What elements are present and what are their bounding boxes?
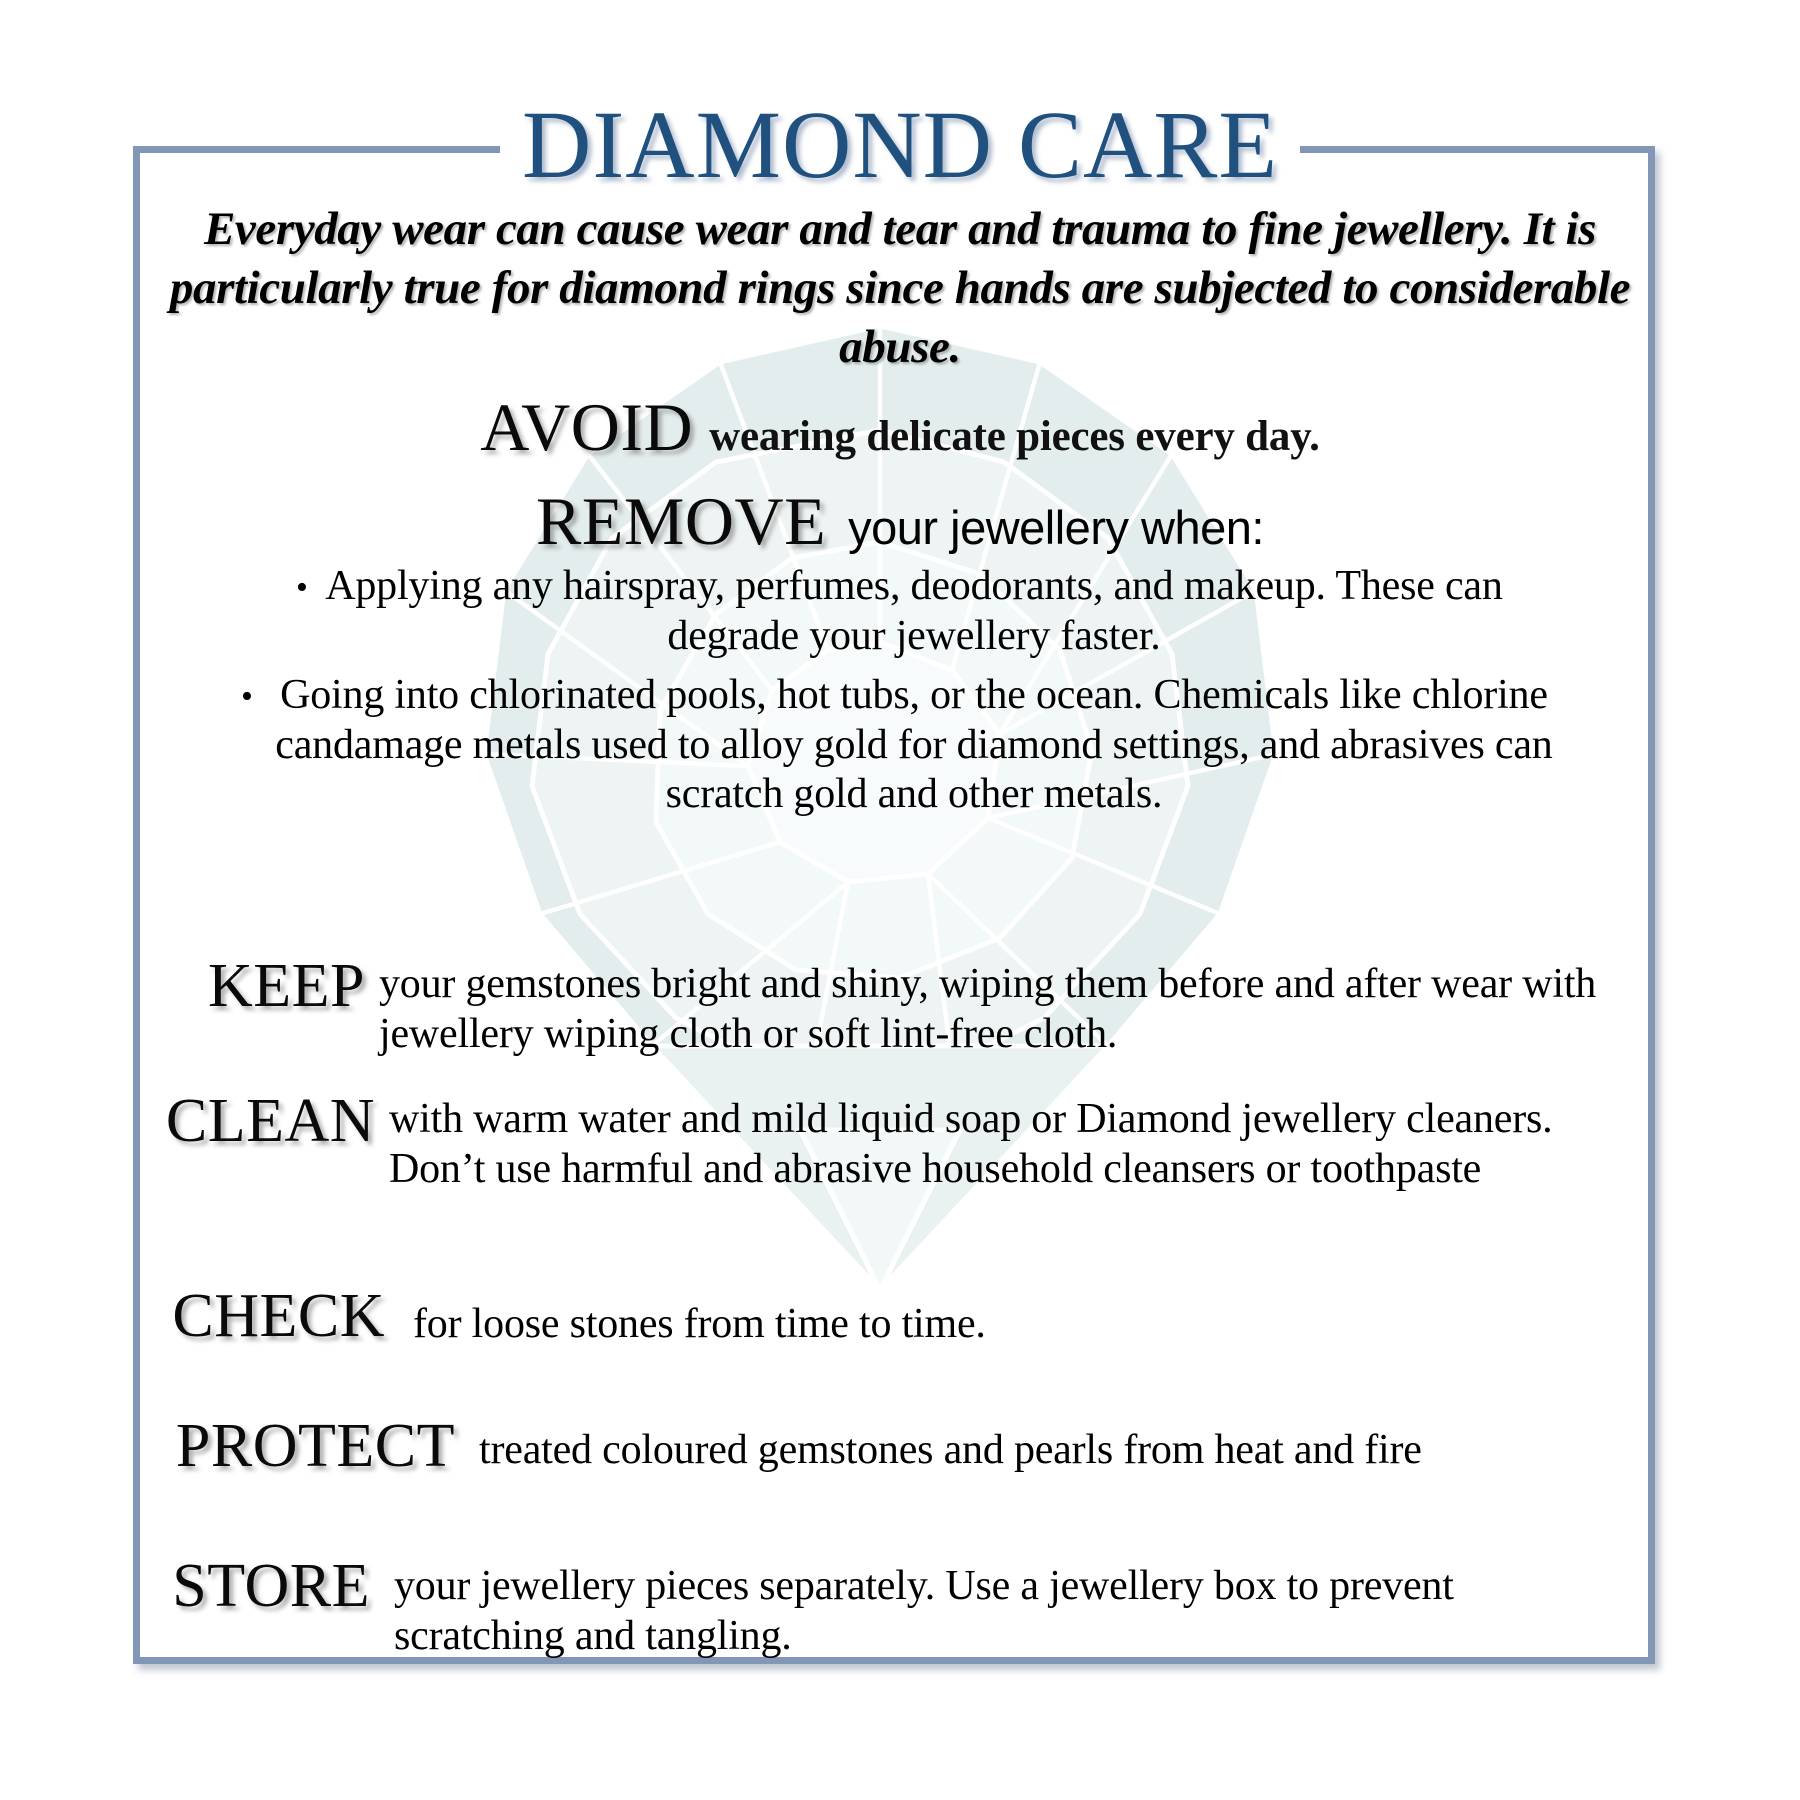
avoid-text: wearing delicate pieces every day. bbox=[693, 413, 1320, 460]
list-item-text: Going into chlorinated pools, hot tubs, … bbox=[269, 671, 1559, 820]
tip-row-keep: KEEP your gemstones bright and shiny, wi… bbox=[165, 955, 1620, 1060]
remove-text: your jewellery when: bbox=[826, 501, 1264, 554]
tip-keyword-cell: STORE bbox=[140, 1555, 370, 1617]
list-item: • Going into chlorinated pools, hot tubs… bbox=[170, 671, 1630, 820]
protect-text: treated coloured gemstones and pearls fr… bbox=[455, 1415, 1620, 1475]
clean-keyword: CLEAN bbox=[166, 1087, 375, 1155]
keep-text: your gemstones bright and shiny, wiping … bbox=[365, 955, 1620, 1060]
list-item-text: Applying any hairspray, perfumes, deodor… bbox=[324, 562, 1504, 661]
tip-keyword-cell: CHECK bbox=[140, 1285, 385, 1347]
protect-keyword: PROTECT bbox=[176, 1412, 455, 1480]
store-keyword: STORE bbox=[172, 1552, 370, 1620]
check-keyword: CHECK bbox=[172, 1282, 385, 1350]
keep-keyword: KEEP bbox=[208, 952, 365, 1020]
tip-keyword-cell: PROTECT bbox=[140, 1415, 455, 1477]
tip-row-check: CHECK for loose stones from time to time… bbox=[140, 1285, 1620, 1349]
diamond-care-poster: DIAMOND CARE Everyday wear can cause wea… bbox=[0, 0, 1800, 1800]
bullet-dot-icon: • bbox=[241, 671, 269, 717]
tip-keyword-cell: CLEAN bbox=[140, 1090, 375, 1152]
avoid-row: AVOIDwearing delicate pieces every day. bbox=[160, 388, 1640, 467]
clean-text: with warm water and mild liquid soap or … bbox=[375, 1090, 1625, 1195]
tip-keyword-cell: KEEP bbox=[165, 955, 365, 1017]
store-text: your jewellery pieces separately. Use a … bbox=[370, 1555, 1625, 1662]
tip-row-store: STORE your jewellery pieces separately. … bbox=[140, 1555, 1625, 1662]
list-item: • Applying any hairspray, perfumes, deod… bbox=[170, 562, 1630, 661]
avoid-keyword: AVOID bbox=[480, 389, 693, 465]
bullet-dot-icon: • bbox=[296, 562, 324, 608]
remove-keyword: REMOVE bbox=[536, 483, 826, 559]
tip-row-protect: PROTECT treated coloured gemstones and p… bbox=[140, 1415, 1620, 1477]
remove-row: REMOVEyour jewellery when: bbox=[160, 482, 1640, 561]
page-title: DIAMOND CARE bbox=[500, 95, 1300, 196]
intro-paragraph: Everyday wear can cause wear and tear an… bbox=[160, 200, 1640, 378]
check-text: for loose stones from time to time. bbox=[385, 1285, 1620, 1349]
page-title-wrapper: DIAMOND CARE bbox=[0, 95, 1800, 196]
tip-row-clean: CLEAN with warm water and mild liquid so… bbox=[140, 1090, 1625, 1195]
remove-bullet-list: • Applying any hairspray, perfumes, deod… bbox=[170, 562, 1630, 830]
